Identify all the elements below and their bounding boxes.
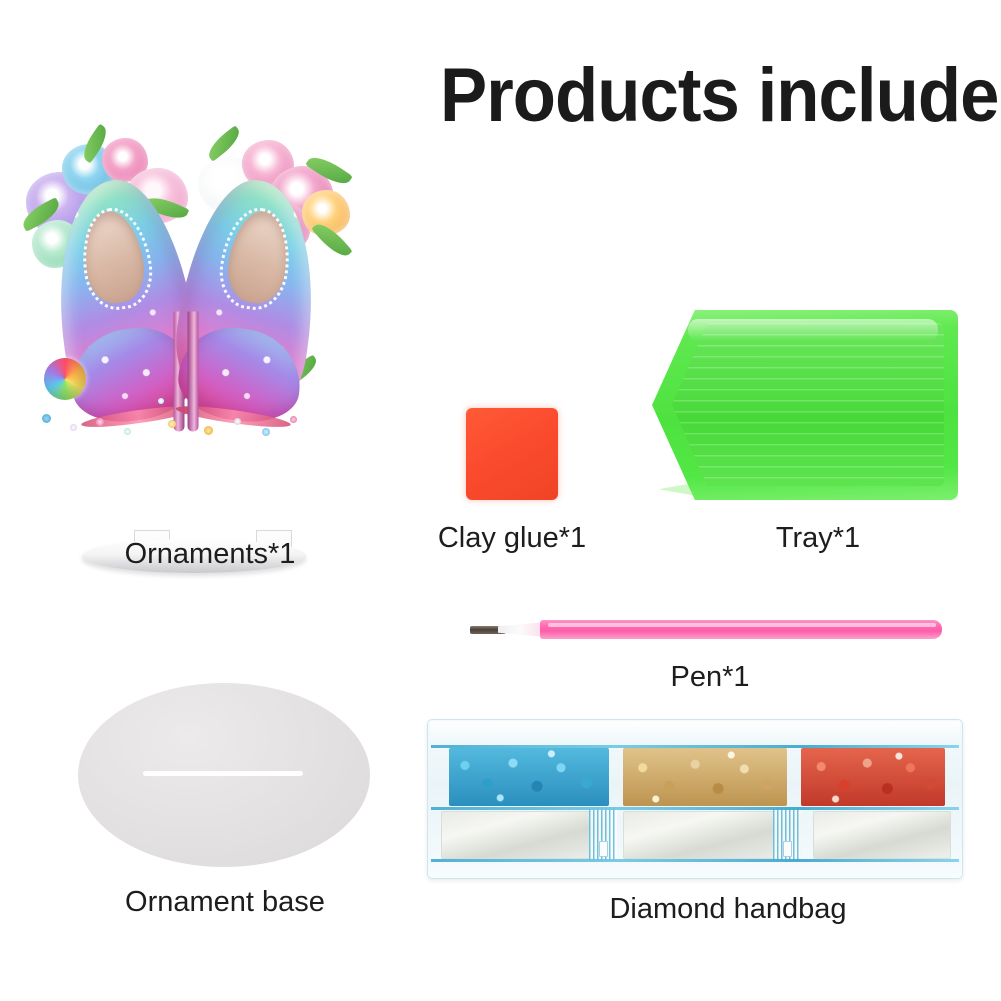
diamond-handbag-caption: Diamond handbag — [568, 892, 888, 926]
tray-highlight — [688, 319, 938, 341]
pen-caption: Pen*1 — [620, 660, 800, 694]
ornament-base-product-image — [78, 683, 370, 867]
drill-sparkle — [262, 428, 270, 436]
ornament-base-caption: Ornament base — [82, 885, 368, 919]
tray-product-image — [652, 310, 964, 510]
drill-sparkle — [234, 418, 241, 425]
drill-sparkle — [158, 398, 164, 404]
drill-sparkle — [42, 414, 51, 423]
bag-seal — [431, 859, 959, 862]
drill-sparkle — [168, 420, 176, 428]
blue-rhinestones — [449, 748, 609, 806]
ornaments-product-image — [18, 128, 368, 458]
bag-top-film — [430, 721, 960, 745]
bag-foil-pouch — [441, 811, 609, 859]
bag-zip-slider — [783, 841, 792, 857]
pen-ferrule — [498, 622, 546, 637]
shoe-heel — [188, 311, 199, 431]
pen-highlight — [548, 623, 936, 627]
high-heels-icon — [18, 128, 368, 458]
red-rhinestones — [801, 748, 945, 806]
clay-glue-product-image — [466, 408, 566, 508]
clay-glue-icon — [466, 408, 558, 500]
diamond-handbag-product-image — [427, 719, 963, 879]
bag-seal — [431, 745, 959, 748]
bag-seal — [431, 807, 959, 810]
pen-product-image — [470, 612, 950, 648]
drill-sparkle — [70, 424, 77, 431]
tray-grooves — [672, 323, 944, 486]
gold-rhinestones — [623, 748, 787, 806]
bag-compartment-gold — [623, 748, 787, 806]
bag-compartment-blue — [449, 748, 609, 806]
bag-compartment-red — [801, 748, 945, 806]
page-title: Products include — [440, 56, 961, 136]
bag-foil-pouch — [813, 811, 951, 859]
right-shoe — [166, 172, 329, 423]
drill-sparkle — [124, 428, 131, 435]
clay-glue-caption: Clay glue*1 — [412, 521, 612, 555]
bag-zip-slider — [599, 841, 608, 857]
drill-sparkle — [96, 418, 104, 426]
base-slot — [143, 771, 303, 776]
tray-caption: Tray*1 — [718, 521, 918, 555]
product-include-infographic: Products include — [0, 0, 1001, 1001]
rainbow-ball — [44, 358, 86, 400]
ornaments-caption: Ornaments*1 — [0, 537, 420, 571]
drill-sparkle — [290, 416, 297, 423]
drill-sparkle — [204, 426, 213, 435]
